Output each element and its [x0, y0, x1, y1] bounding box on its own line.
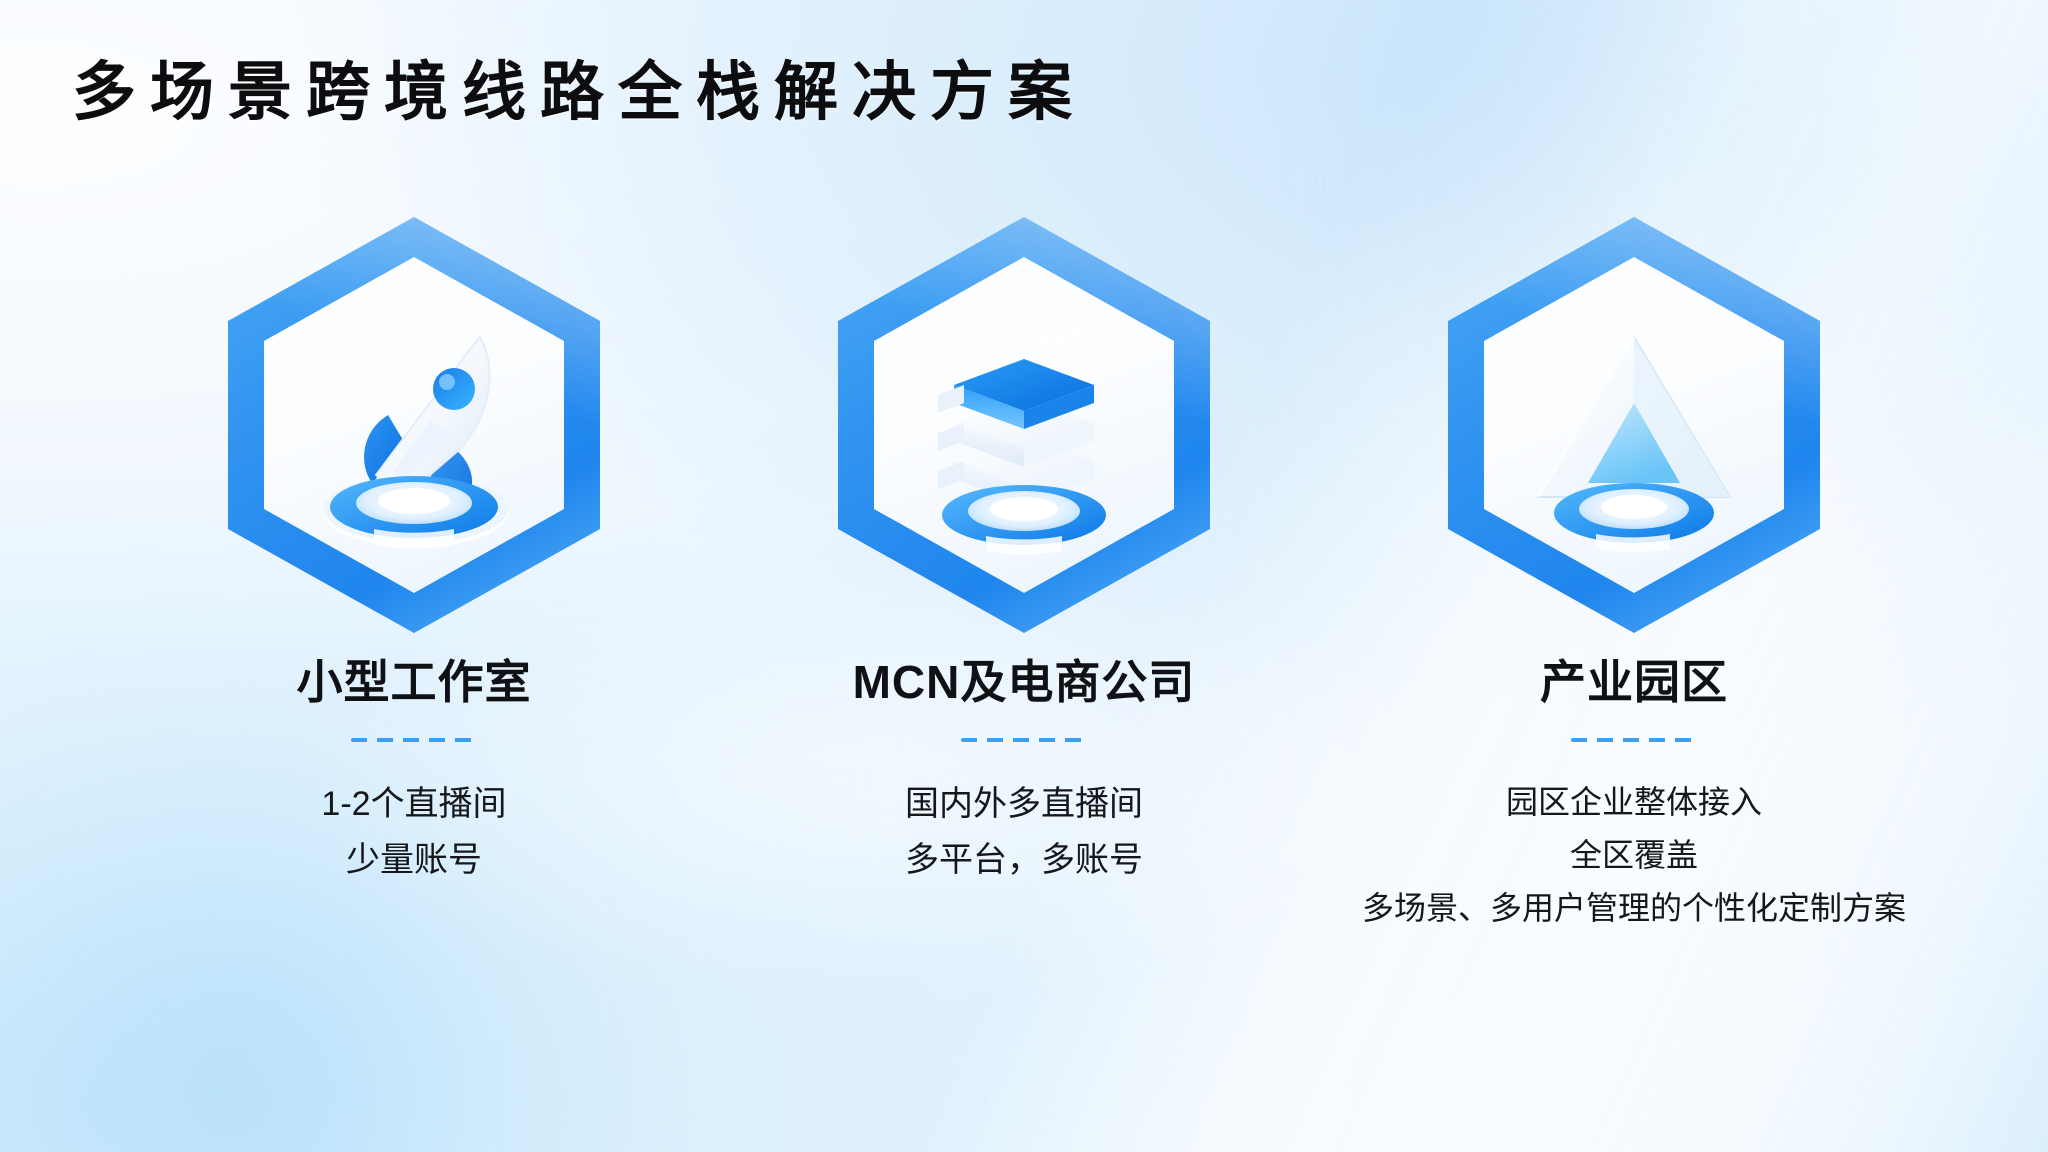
card-description: 国内外多直播间 多平台，多账号 — [905, 776, 1143, 888]
scenario-card-row: 小型工作室 1-2个直播间 少量账号 — [0, 210, 2048, 934]
card-title: 小型工作室 — [297, 646, 532, 712]
scenario-card-industrial-park[interactable]: 产业园区 园区企业整体接入 全区覆盖 多场景、多用户管理的个性化定制方案 — [1364, 210, 1904, 934]
card-divider — [961, 738, 1087, 742]
card-description: 园区企业整体接入 全区覆盖 多场景、多用户管理的个性化定制方案 — [1362, 776, 1906, 934]
scenario-card-small-studio[interactable]: 小型工作室 1-2个直播间 少量账号 — [144, 210, 684, 888]
card-divider — [1571, 738, 1697, 742]
card-title: 产业园区 — [1540, 646, 1728, 712]
card-description-line: 园区企业整体接入 — [1362, 776, 1906, 829]
card-divider — [351, 738, 477, 742]
server-stack-icon — [874, 257, 1174, 593]
card-description-line: 1-2个直播间 — [321, 776, 506, 832]
hexagon-badge — [1444, 210, 1824, 640]
hexagon-badge — [224, 210, 604, 640]
pyramid-icon — [1484, 257, 1784, 593]
card-description-line: 全区覆盖 — [1362, 829, 1906, 882]
card-description: 1-2个直播间 少量账号 — [321, 776, 506, 888]
page-title: 多场景跨境线路全栈解决方案 — [72, 56, 1086, 130]
card-description-line: 少量账号 — [321, 832, 506, 888]
card-description-line: 多平台，多账号 — [905, 832, 1143, 888]
card-title: MCN及电商公司 — [853, 646, 1196, 712]
scenario-card-mcn-ecommerce[interactable]: MCN及电商公司 国内外多直播间 多平台，多账号 — [754, 210, 1294, 888]
card-description-line: 多场景、多用户管理的个性化定制方案 — [1362, 882, 1906, 935]
hexagon-badge — [834, 210, 1214, 640]
card-description-line: 国内外多直播间 — [905, 776, 1143, 832]
rocket-icon — [264, 257, 564, 593]
